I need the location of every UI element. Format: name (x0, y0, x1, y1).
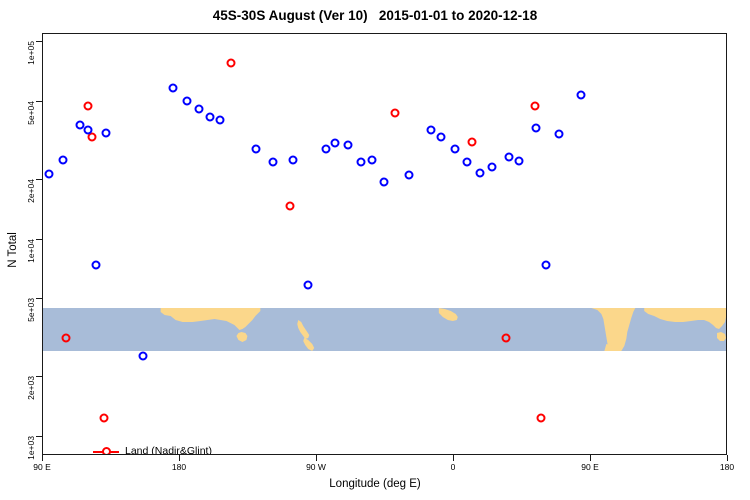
x-tick-mark (316, 455, 317, 461)
australia-landmass-left (161, 308, 261, 330)
x-axis-title: Longitude (deg E) (0, 478, 750, 490)
x-tick-mark (590, 455, 591, 461)
data-point-ocean (488, 162, 497, 171)
data-point-ocean (195, 105, 204, 114)
data-point-ocean (216, 115, 225, 124)
y-tick-label-text: 2e+03 (26, 376, 36, 400)
data-point-ocean (531, 123, 540, 132)
y-tick-label: 1e+03 (0, 430, 33, 442)
data-point-ocean (426, 125, 435, 134)
y-tick-mark (36, 41, 42, 42)
data-point-ocean (139, 351, 148, 360)
data-point-ocean (84, 125, 93, 134)
coastline-svg (43, 308, 726, 351)
x-tick-label: 0 (451, 462, 456, 472)
data-point-land (537, 413, 546, 422)
plot-area: Land (Nadir&Glint) Ocean (Glint) (42, 33, 727, 455)
data-point-land (391, 109, 400, 118)
legend-item-land: Land (Nadir&Glint) (93, 444, 212, 455)
y-tick-label: 5e+04 (0, 95, 33, 107)
y-tick-label-text: 5e+04 (26, 101, 36, 125)
tasmania-landmass-right (717, 332, 726, 341)
data-point-ocean (541, 261, 550, 270)
southamerica-landmass (591, 308, 635, 351)
latitude-band-map (43, 308, 726, 351)
data-point-ocean (322, 144, 331, 153)
x-tick-mark (453, 455, 454, 461)
data-point-ocean (344, 140, 353, 149)
data-point-land (226, 58, 235, 67)
australia-landmass-right (644, 308, 726, 329)
data-point-land (468, 137, 477, 146)
y-tick-mark (36, 376, 42, 377)
x-tick-mark (42, 455, 43, 461)
y-tick-mark (36, 239, 42, 240)
x-tick-label: 180 (172, 462, 186, 472)
data-point-ocean (331, 138, 340, 147)
y-tick-label: 2e+03 (0, 370, 33, 382)
data-point-land (502, 333, 511, 342)
data-point-ocean (205, 112, 214, 121)
data-point-ocean (436, 133, 445, 142)
x-tick-mark (727, 455, 728, 461)
scatter-chart-figure: 45S-30S August (Ver 10) 2015-01-01 to 20… (0, 0, 750, 500)
data-point-ocean (251, 145, 260, 154)
data-point-ocean (450, 144, 459, 153)
data-point-ocean (168, 84, 177, 93)
y-tick-label-text: 2e+04 (26, 179, 36, 203)
y-tick-label-text: 1e+05 (26, 41, 36, 65)
data-point-ocean (504, 153, 513, 162)
y-tick-mark (36, 101, 42, 102)
tasmania-landmass-left (236, 332, 247, 342)
data-point-ocean (515, 156, 524, 165)
y-tick-mark (36, 298, 42, 299)
y-tick-label-text: 1e+03 (26, 436, 36, 460)
data-point-ocean (463, 157, 472, 166)
data-point-ocean (404, 170, 413, 179)
data-point-ocean (357, 158, 366, 167)
data-point-ocean (58, 155, 67, 164)
data-point-ocean (476, 169, 485, 178)
x-tick-label: 180 (720, 462, 734, 472)
y-axis-title: N Total (7, 190, 19, 310)
data-point-land (100, 413, 109, 422)
africa-landmass (439, 308, 458, 321)
legend-marker-land (102, 447, 111, 456)
data-point-ocean (379, 177, 388, 186)
chart-title: 45S-30S August (Ver 10) 2015-01-01 to 20… (0, 8, 750, 23)
y-tick-label: 2e+04 (0, 173, 33, 185)
x-tick-label: 90 E (33, 462, 51, 472)
data-point-ocean (577, 90, 586, 99)
x-tick-label: 90 W (306, 462, 326, 472)
newzealand-landmass-left (297, 320, 309, 339)
data-point-ocean (269, 157, 278, 166)
y-tick-label-text: 5e+03 (26, 298, 36, 322)
chart-legend: Land (Nadir&Glint) Ocean (Glint) (93, 444, 212, 455)
y-tick-label-text: 1e+04 (26, 239, 36, 263)
data-point-ocean (45, 169, 54, 178)
data-point-land (84, 102, 93, 111)
data-point-land (530, 102, 539, 111)
data-point-land (285, 201, 294, 210)
data-point-ocean (304, 280, 313, 289)
y-tick-label: 1e+05 (0, 35, 33, 47)
x-tick-mark (179, 455, 180, 461)
data-point-ocean (91, 261, 100, 270)
newzealand-south-left (303, 338, 314, 351)
x-tick-label: 90 E (581, 462, 599, 472)
data-point-land (88, 133, 97, 142)
data-point-ocean (368, 155, 377, 164)
data-point-land (62, 333, 71, 342)
y-tick-mark (36, 436, 42, 437)
legend-label-land: Land (Nadir&Glint) (125, 444, 212, 455)
data-point-ocean (555, 129, 564, 138)
y-tick-mark (36, 179, 42, 180)
data-point-ocean (182, 96, 191, 105)
data-point-ocean (288, 155, 297, 164)
legend-swatch-land (93, 446, 119, 456)
data-point-ocean (102, 128, 111, 137)
